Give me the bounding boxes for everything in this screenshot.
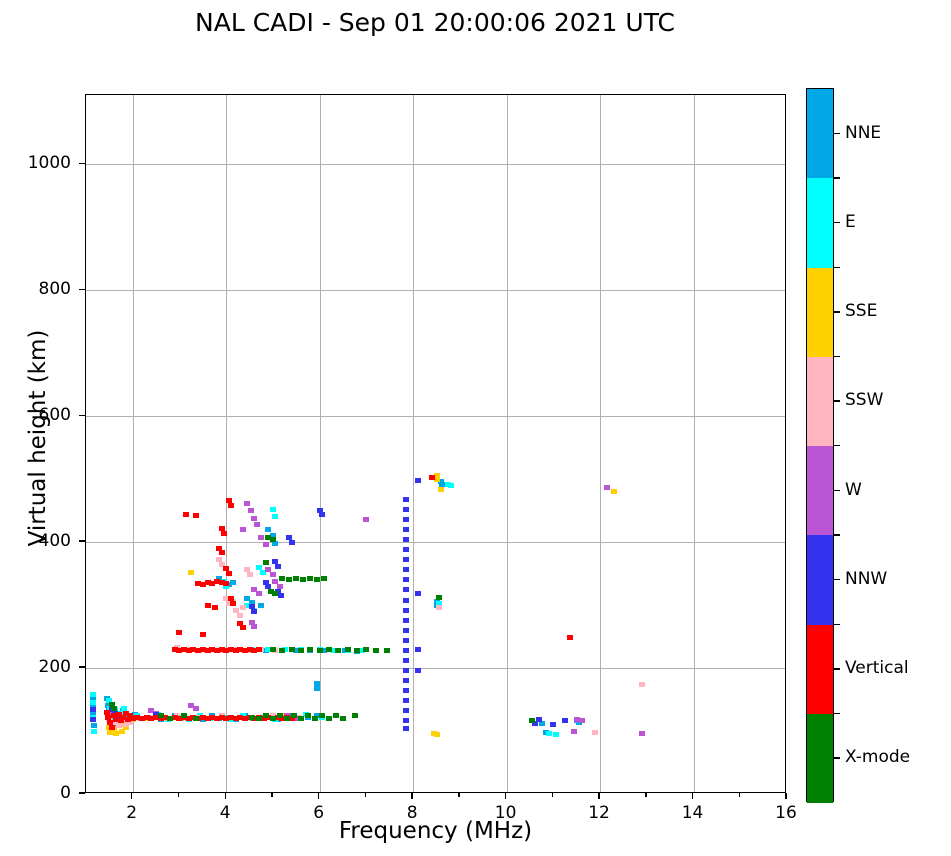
data-point — [226, 571, 232, 576]
x-tick — [505, 793, 506, 799]
colorbar-label-tick — [834, 668, 840, 669]
data-point — [221, 531, 227, 536]
gridline-vertical — [507, 95, 508, 792]
data-point — [403, 517, 409, 522]
data-point — [373, 648, 379, 653]
colorbar-segment-ssw — [807, 357, 833, 446]
data-point — [403, 698, 409, 703]
data-point — [571, 729, 577, 734]
data-point — [240, 625, 246, 630]
data-point — [415, 591, 421, 596]
colorbar-label-tick — [834, 579, 840, 580]
data-point — [230, 601, 236, 606]
data-point — [167, 716, 173, 721]
data-point — [403, 577, 409, 582]
data-point — [579, 718, 585, 723]
y-tick-label: 0 — [7, 783, 71, 803]
data-point — [604, 485, 610, 490]
data-point — [90, 700, 96, 705]
data-point — [403, 507, 409, 512]
data-point — [258, 535, 264, 540]
data-point — [403, 567, 409, 572]
data-point — [363, 647, 369, 652]
data-point — [111, 706, 117, 711]
data-point — [263, 713, 269, 718]
x-axis-label: Frequency (MHz) — [85, 818, 786, 844]
data-point — [270, 647, 276, 652]
x-tick — [692, 793, 693, 799]
colorbar-label-tick — [834, 490, 840, 491]
data-point — [611, 489, 617, 494]
colorbar-boundary-tick — [834, 445, 840, 446]
colorbar-label-nne: NNE — [845, 123, 881, 143]
colorbar-segment-e — [807, 178, 833, 267]
data-point — [90, 692, 96, 697]
data-point — [403, 628, 409, 633]
data-point — [415, 647, 421, 652]
data-point — [403, 557, 409, 562]
data-point — [553, 732, 559, 737]
data-point — [403, 688, 409, 693]
data-point — [193, 706, 199, 711]
data-point — [403, 598, 409, 603]
data-point — [307, 647, 313, 652]
data-point — [158, 713, 164, 718]
x-tick — [131, 793, 132, 799]
data-point — [403, 608, 409, 613]
data-point — [333, 713, 339, 718]
data-point — [284, 716, 290, 721]
y-tick — [79, 289, 85, 290]
data-point — [403, 658, 409, 663]
gridline-horizontal — [86, 416, 785, 417]
data-point — [193, 716, 199, 721]
data-point — [263, 560, 269, 565]
data-point — [415, 478, 421, 483]
data-point — [434, 732, 440, 737]
data-point — [340, 716, 346, 721]
data-point — [270, 537, 276, 542]
colorbar-label-tick — [834, 400, 840, 401]
data-point — [326, 716, 332, 721]
x-tick — [411, 793, 412, 799]
data-point — [298, 648, 304, 653]
colorbar-label-tick — [834, 757, 840, 758]
data-point — [352, 713, 358, 718]
gridline-horizontal — [86, 290, 785, 291]
data-point — [293, 576, 299, 581]
colorbar-segment-vertical — [807, 625, 833, 714]
data-point — [403, 668, 409, 673]
data-point — [438, 487, 444, 492]
gridline-vertical — [133, 95, 134, 792]
data-point — [278, 593, 284, 598]
data-point — [248, 508, 254, 513]
data-point — [403, 527, 409, 532]
data-point — [639, 731, 645, 736]
data-point — [403, 618, 409, 623]
data-point — [181, 713, 187, 718]
data-point — [403, 678, 409, 683]
gridline-vertical — [413, 95, 414, 792]
data-point — [244, 501, 250, 506]
data-point — [639, 682, 645, 687]
x-tick — [225, 793, 226, 799]
data-point — [251, 624, 257, 629]
data-point — [212, 605, 218, 610]
data-point — [319, 512, 325, 517]
colorbar-segment-sse — [807, 268, 833, 357]
data-point — [403, 708, 409, 713]
data-point — [270, 507, 276, 512]
data-point — [183, 512, 189, 517]
colorbar-boundary-tick — [834, 713, 840, 714]
y-tick — [79, 540, 85, 541]
gridline-horizontal — [86, 542, 785, 543]
plot-area — [86, 95, 785, 792]
data-point — [291, 713, 297, 718]
data-point — [270, 572, 276, 577]
colorbar-label-sse: SSE — [845, 301, 877, 321]
data-point — [272, 514, 278, 519]
data-point — [546, 731, 552, 736]
data-point — [305, 713, 311, 718]
data-point — [249, 715, 255, 720]
data-point — [436, 605, 442, 610]
data-point — [237, 613, 243, 618]
data-point — [567, 635, 573, 640]
gridline-horizontal — [86, 668, 785, 669]
data-point — [116, 723, 122, 728]
x-minor-tick — [271, 793, 272, 797]
data-point — [109, 725, 115, 730]
colorbar-segment-x-mode — [807, 714, 833, 803]
data-point — [91, 729, 97, 734]
colorbar-segment-nne — [807, 89, 833, 178]
data-point — [247, 572, 253, 577]
data-point — [307, 576, 313, 581]
x-minor-tick — [178, 793, 179, 797]
data-point — [277, 713, 283, 718]
data-point — [335, 648, 341, 653]
x-minor-tick — [739, 793, 740, 797]
colorbar-label-nnw: NNW — [845, 569, 887, 589]
data-point — [251, 609, 257, 614]
data-point — [436, 595, 442, 600]
data-point — [314, 577, 320, 582]
colorbar-boundary-tick — [834, 534, 840, 535]
x-minor-tick — [552, 793, 553, 797]
data-point — [312, 716, 318, 721]
data-point — [317, 648, 323, 653]
ionogram-figure: NAL CADI - Sep 01 20:00:06 2021 UTC 2468… — [0, 0, 951, 856]
data-point — [384, 648, 390, 653]
x-minor-tick — [365, 793, 366, 797]
x-minor-tick — [645, 793, 646, 797]
x-tick — [318, 793, 319, 799]
data-point — [529, 718, 535, 723]
data-point — [270, 716, 276, 721]
gridline-horizontal — [86, 164, 785, 165]
x-tick — [598, 793, 599, 799]
colorbar — [806, 88, 834, 802]
y-tick — [79, 163, 85, 164]
colorbar-label-e: E — [845, 212, 856, 232]
data-point — [289, 647, 295, 652]
colorbar-segment-w — [807, 446, 833, 535]
data-point — [272, 591, 278, 596]
data-point — [219, 550, 225, 555]
data-point — [403, 726, 409, 731]
data-point — [265, 527, 271, 532]
data-point — [275, 564, 281, 569]
data-point — [536, 717, 542, 722]
data-point — [403, 718, 409, 723]
data-point — [403, 537, 409, 542]
y-axis-label: Virtual height (km) — [25, 238, 51, 638]
data-point — [354, 648, 360, 653]
colorbar-boundary-tick — [834, 356, 840, 357]
colorbar-label-tick — [834, 222, 840, 223]
gridline-vertical — [600, 95, 601, 792]
data-point — [321, 576, 327, 581]
data-point — [254, 522, 260, 527]
data-point — [90, 707, 96, 712]
data-point — [550, 722, 556, 727]
colorbar-boundary-tick — [834, 177, 840, 178]
data-point — [279, 648, 285, 653]
colorbar-label-w: W — [845, 480, 862, 500]
x-minor-tick — [458, 793, 459, 797]
colorbar-boundary-tick — [834, 624, 840, 625]
data-point — [592, 730, 598, 735]
colorbar-label-vertical: Vertical — [845, 658, 909, 678]
data-point — [403, 638, 409, 643]
x-tick — [785, 793, 786, 799]
plot-frame — [85, 94, 786, 793]
y-tick — [79, 666, 85, 667]
data-point — [279, 576, 285, 581]
data-point — [319, 713, 325, 718]
data-point — [403, 587, 409, 592]
data-point — [403, 497, 409, 502]
data-point — [256, 591, 262, 596]
data-point — [200, 632, 206, 637]
data-point — [298, 716, 304, 721]
page-title: NAL CADI - Sep 01 20:00:06 2021 UTC — [0, 8, 870, 37]
data-point — [345, 647, 351, 652]
colorbar-label-tick — [834, 311, 840, 312]
data-point — [176, 630, 182, 635]
data-point — [286, 577, 292, 582]
data-point — [240, 527, 246, 532]
data-point — [205, 603, 211, 608]
data-point — [240, 605, 246, 610]
colorbar-label-tick — [834, 133, 840, 134]
data-point — [251, 516, 257, 521]
y-tick — [79, 415, 85, 416]
data-point — [228, 503, 234, 508]
colorbar-boundary-tick — [834, 267, 840, 268]
data-point — [230, 580, 236, 585]
data-point — [363, 517, 369, 522]
data-point — [193, 513, 199, 518]
data-point — [403, 648, 409, 653]
y-tick — [79, 792, 85, 793]
gridline-vertical — [694, 95, 695, 792]
data-point — [429, 475, 435, 480]
data-point — [403, 547, 409, 552]
y-tick-label: 1000 — [7, 153, 71, 173]
data-point — [448, 483, 454, 488]
data-point — [289, 540, 295, 545]
data-point — [223, 581, 229, 586]
data-point — [90, 717, 96, 722]
data-point — [326, 647, 332, 652]
data-point — [188, 570, 194, 575]
data-point — [300, 577, 306, 582]
data-point — [256, 647, 262, 652]
data-point — [415, 668, 421, 673]
colorbar-segment-nnw — [807, 535, 833, 624]
data-point — [562, 718, 568, 723]
data-point — [314, 686, 320, 691]
data-point — [256, 716, 262, 721]
data-point — [258, 603, 264, 608]
colorbar-label-x-mode: X-mode — [845, 747, 910, 767]
data-point — [263, 542, 269, 547]
colorbar-label-ssw: SSW — [845, 390, 883, 410]
y-tick-label: 200 — [7, 657, 71, 677]
gridline-vertical — [226, 95, 227, 792]
